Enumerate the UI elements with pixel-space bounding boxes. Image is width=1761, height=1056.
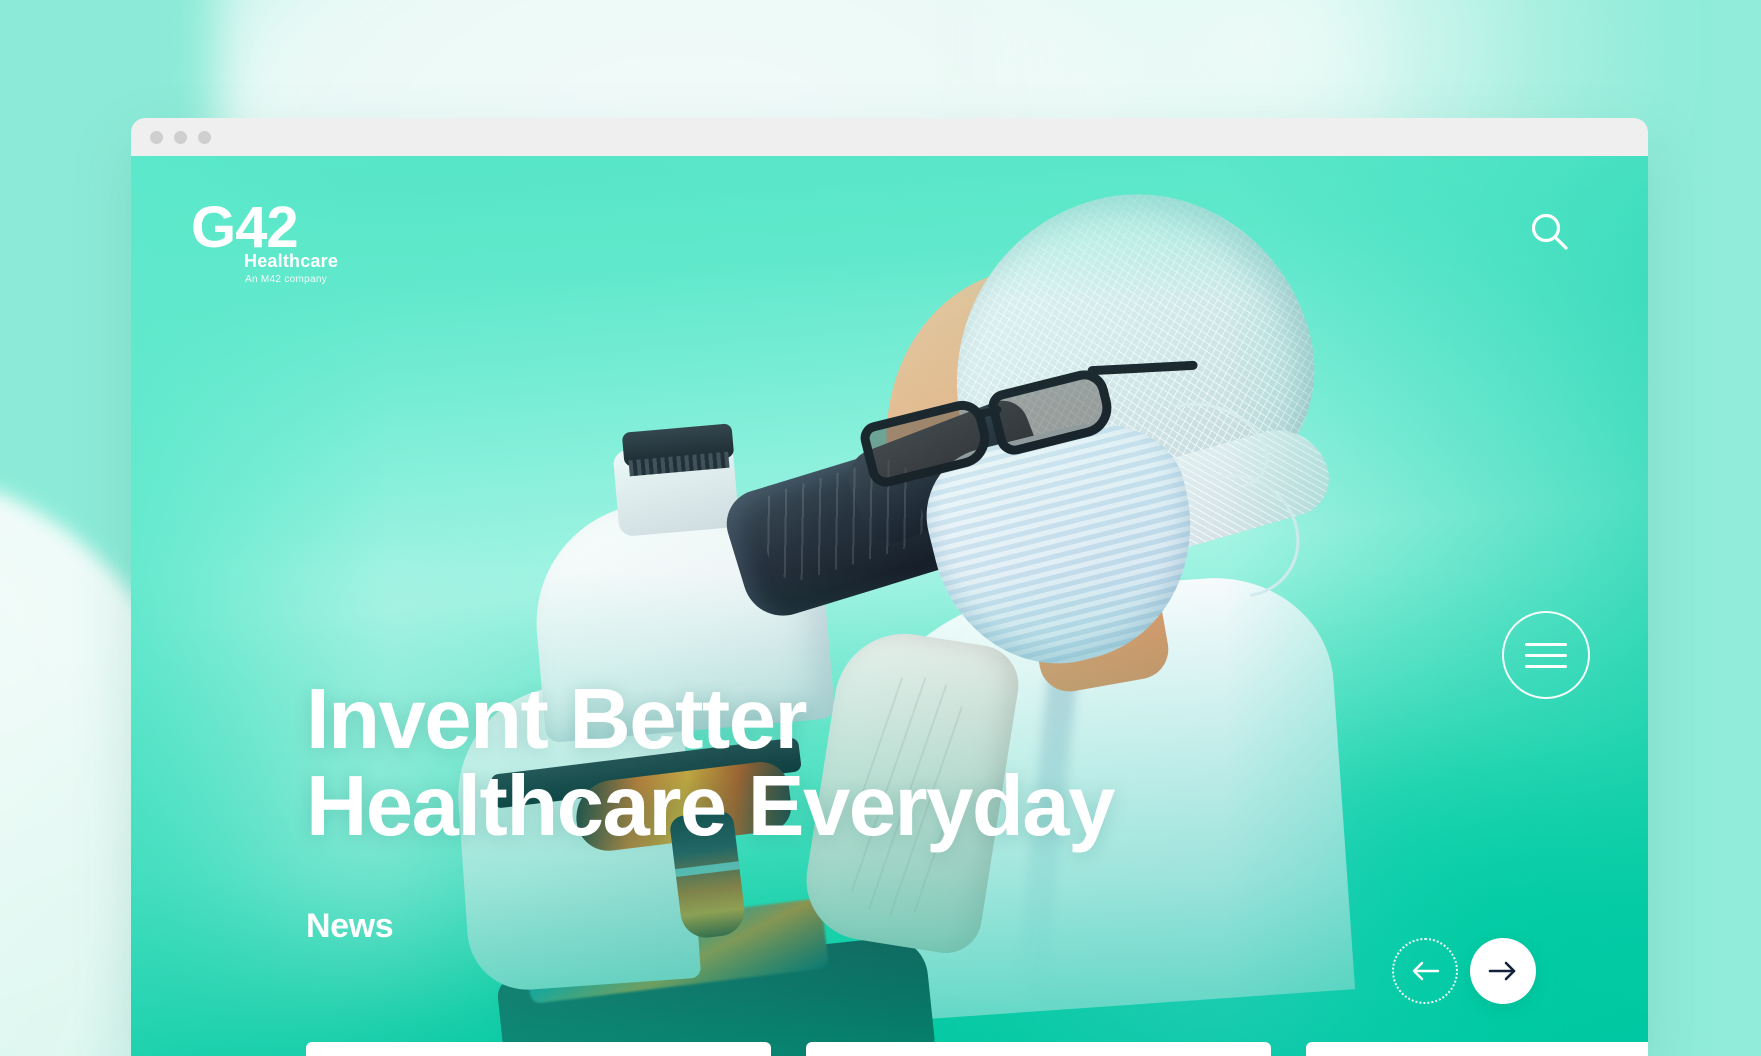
hero-headline: Invent Better Healthcare Everyday [306, 676, 1114, 851]
carousel-navigation [1392, 938, 1536, 1004]
menu-button[interactable] [1502, 611, 1590, 699]
news-card[interactable] [306, 1042, 771, 1056]
site-logo[interactable]: G42 Healthcare An M42 company [191, 200, 351, 290]
hamburger-icon-line-3 [1525, 665, 1567, 668]
browser-window: G42 Healthcare An M42 company [131, 118, 1648, 1056]
search-icon [1528, 210, 1572, 254]
browser-chrome-bar [131, 118, 1648, 156]
logo-wordmark: G42 [191, 200, 351, 255]
close-dot[interactable] [150, 131, 163, 144]
site-header: G42 Healthcare An M42 company [131, 156, 1648, 290]
hamburger-icon-line-2 [1525, 654, 1567, 657]
maximize-dot[interactable] [198, 131, 211, 144]
hero-section: G42 Healthcare An M42 company [131, 156, 1648, 1056]
logo-division: Healthcare [244, 251, 351, 272]
news-card[interactable] [1306, 1042, 1648, 1056]
news-card-strip [131, 1042, 1648, 1056]
arrow-right-icon [1488, 960, 1518, 982]
desktop-backdrop: G42 Healthcare An M42 company [0, 0, 1761, 1056]
carousel-next-button[interactable] [1470, 938, 1536, 1004]
news-section-heading: News [306, 907, 1114, 946]
logo-tagline: An M42 company [245, 274, 351, 285]
hero-headline-line-2: Healthcare Everyday [306, 759, 1114, 854]
search-button[interactable] [1524, 206, 1576, 258]
hero-headline-line-1: Invent Better [306, 672, 806, 767]
arrow-left-icon [1410, 960, 1440, 982]
carousel-prev-button[interactable] [1392, 938, 1458, 1004]
minimize-dot[interactable] [174, 131, 187, 144]
news-card[interactable] [806, 1042, 1271, 1056]
hamburger-icon-line-1 [1525, 643, 1567, 646]
hero-copy: Invent Better Healthcare Everyday News [306, 676, 1114, 946]
